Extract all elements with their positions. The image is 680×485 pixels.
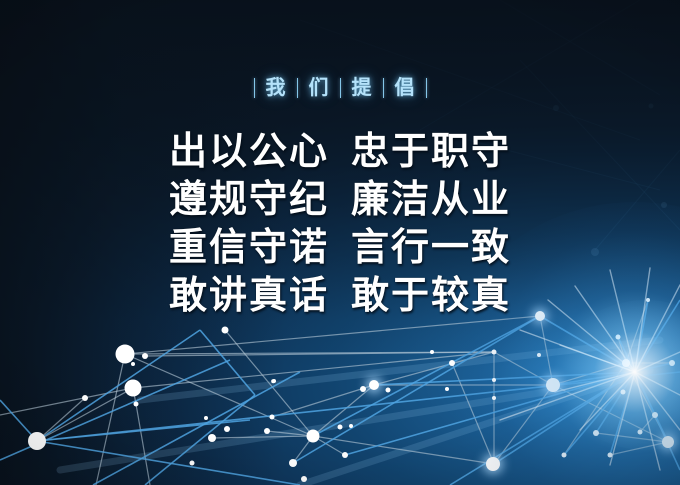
slogan-phrase-right: 敢于较真 xyxy=(351,272,511,320)
slogan-block: 出以公心 忠于职守 遵规守纪 廉洁从业 重信守诺 言行一致 敢讲真话 敢于较真 xyxy=(0,128,680,320)
header-tagline: 我 们 提 倡 xyxy=(0,78,680,98)
poster-canvas: 我 们 提 倡 出以公心 忠于职守 遵规守纪 廉洁从业 重信守诺 言行一致 敢讲… xyxy=(0,0,680,485)
separator-icon xyxy=(297,78,298,98)
separator-icon xyxy=(426,78,427,98)
separator-icon xyxy=(254,78,255,98)
slogan-phrase-right: 廉洁从业 xyxy=(351,176,511,224)
separator-icon xyxy=(383,78,384,98)
header-char-1: 我 xyxy=(266,78,286,98)
slogan-line-2: 遵规守纪 廉洁从业 xyxy=(0,176,680,224)
slogan-phrase-left: 遵规守纪 xyxy=(169,176,329,224)
header-char-3: 提 xyxy=(352,78,372,98)
slogan-phrase-right: 忠于职守 xyxy=(351,128,511,176)
slogan-phrase-left: 重信守诺 xyxy=(169,224,329,272)
header-char-2: 们 xyxy=(309,78,329,98)
slogan-phrase-left: 敢讲真话 xyxy=(169,272,329,320)
slogan-line-4: 敢讲真话 敢于较真 xyxy=(0,272,680,320)
separator-icon xyxy=(340,78,341,98)
slogan-line-1: 出以公心 忠于职守 xyxy=(0,128,680,176)
slogan-phrase-left: 出以公心 xyxy=(169,128,329,176)
slogan-line-3: 重信守诺 言行一致 xyxy=(0,224,680,272)
slogan-phrase-right: 言行一致 xyxy=(351,224,511,272)
header-char-4: 倡 xyxy=(395,78,415,98)
